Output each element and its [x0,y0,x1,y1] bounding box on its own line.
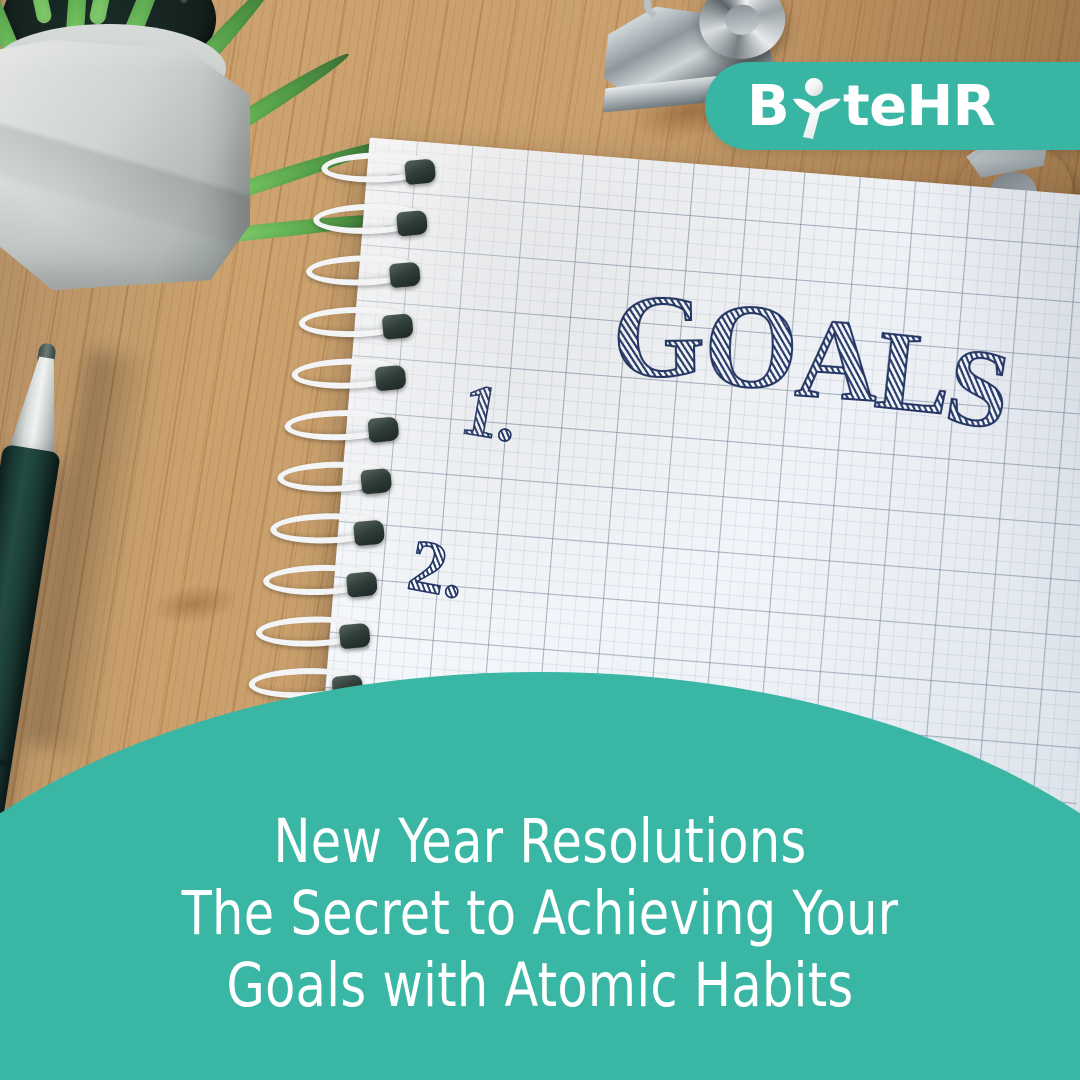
headline-block: New Year Resolutions The Secret to Achie… [54,806,1026,1022]
headline-line-2: The Secret to Achieving Your [54,878,1026,950]
headline-line-3: Goals with Atomic Habits [54,950,1026,1022]
spiral-coil [298,303,412,342]
spiral-coil [262,561,376,600]
logo-text-tehr: teHR [843,74,995,139]
spiral-coil [269,509,383,548]
pen-cone [9,354,69,456]
bytehr-logo-badge[interactable]: B teHR [705,62,1080,150]
logo-letter-b: B [747,74,789,139]
headline-line-1: New Year Resolutions [54,806,1026,878]
planter-facet-shading [0,40,250,290]
social-media-poster: G O A L S 1. 2. 3. [0,0,1080,1080]
spiral-coil [276,457,390,496]
person-figure-y-icon [789,75,843,137]
potted-plant [0,0,268,290]
logo-wordmark: B teHR [747,74,995,139]
spiral-coil [305,251,419,290]
spiral-coil [284,406,398,445]
spiral-coil [312,199,426,238]
spiral-coil [255,612,369,651]
spiral-coil [320,148,434,187]
spiral-coil [291,354,405,393]
